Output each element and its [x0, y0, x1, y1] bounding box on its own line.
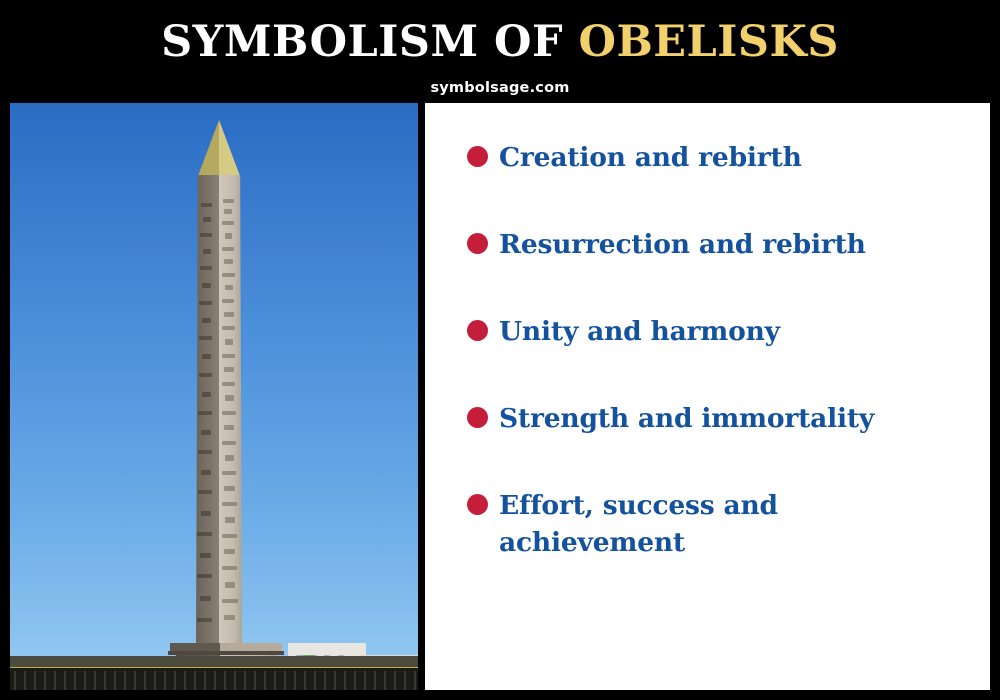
- hieroglyph-mark: [224, 549, 235, 554]
- hieroglyph-mark: [224, 425, 234, 430]
- hieroglyph-mark: [225, 285, 233, 290]
- hieroglyph-mark-shaded: [197, 532, 212, 536]
- hieroglyph-mark-shaded: [201, 470, 211, 475]
- list-item-label: Creation and rebirth: [499, 139, 802, 176]
- list-item-label: Effort, success and achievement: [499, 487, 859, 561]
- hieroglyph-mark-shaded: [198, 411, 212, 415]
- pyramidion-left-face: [198, 120, 219, 176]
- hieroglyph-mark-shaded: [201, 511, 211, 516]
- title-part-obelisks: OBELISKS: [578, 17, 838, 67]
- hieroglyph-mark: [224, 209, 232, 214]
- hieroglyph-mark: [222, 326, 235, 330]
- hieroglyph-mark-shaded: [200, 266, 212, 270]
- hieroglyph-mark-shaded: [200, 553, 211, 558]
- header-band: SYMBOLISM OF OBELISKS symbolsage.com: [0, 0, 1000, 100]
- hieroglyph-mark: [222, 599, 238, 603]
- list-item-label: Unity and harmony: [499, 313, 780, 350]
- list-item: Creation and rebirth: [467, 139, 967, 176]
- infographic-canvas: SYMBOLISM OF OBELISKS symbolsage.com: [0, 0, 1000, 700]
- hieroglyph-mark: [222, 299, 234, 303]
- hieroglyph-mark-shaded: [202, 354, 211, 359]
- pedestal-cornice-lit: [220, 643, 282, 651]
- hieroglyph-mark: [222, 441, 236, 445]
- hieroglyph-mark: [223, 199, 234, 203]
- list-item: Strength and immortality: [467, 400, 967, 437]
- hieroglyph-mark-shaded: [198, 450, 212, 454]
- hieroglyph-mark-shaded: [202, 392, 211, 397]
- hieroglyph-mark: [224, 367, 234, 372]
- hieroglyph-mark: [225, 455, 234, 461]
- hieroglyph-mark: [222, 566, 237, 570]
- hieroglyph-mark: [225, 395, 234, 401]
- title-part-symbolism-of: SYMBOLISM OF: [161, 17, 578, 67]
- hieroglyph-mark: [222, 411, 236, 415]
- hieroglyph-mark-shaded: [202, 318, 211, 323]
- hieroglyph-mark: [225, 517, 235, 523]
- page-title: SYMBOLISM OF OBELISKS: [0, 17, 1000, 67]
- bullet-dot-icon: [467, 146, 488, 167]
- list-item-label: Strength and immortality: [499, 400, 874, 437]
- hieroglyph-mark-shaded: [203, 217, 211, 222]
- hieroglyph-mark: [225, 233, 232, 239]
- hieroglyph-mark: [225, 339, 233, 345]
- list-item: Unity and harmony: [467, 313, 967, 350]
- hieroglyph-mark-shaded: [203, 249, 211, 254]
- obelisk-photo: [10, 103, 418, 690]
- hieroglyph-mark: [225, 582, 235, 588]
- obelisk-shaft-shaded-face: [196, 175, 219, 643]
- hieroglyph-mark: [224, 615, 235, 620]
- railing-fence: [10, 668, 418, 690]
- hieroglyph-mark: [224, 486, 235, 491]
- hieroglyph-mark: [224, 259, 233, 264]
- hieroglyph-mark-shaded: [201, 430, 211, 435]
- hieroglyph-mark: [222, 382, 235, 386]
- hieroglyph-mark-shaded: [197, 574, 212, 578]
- symbolism-list: Creation and rebirth Resurrection and re…: [467, 139, 967, 561]
- obelisk-monument: [10, 103, 418, 690]
- obelisk-shaft-lit-face: [219, 175, 242, 643]
- hieroglyph-mark-shaded: [200, 596, 211, 601]
- hieroglyph-mark: [222, 247, 234, 251]
- hieroglyph-mark-shaded: [202, 283, 211, 288]
- bullet-dot-icon: [467, 494, 488, 515]
- hieroglyph-mark-shaded: [197, 618, 212, 622]
- list-item-label: Resurrection and rebirth: [499, 226, 866, 263]
- hieroglyph-mark-shaded: [198, 490, 212, 494]
- hieroglyph-mark: [222, 354, 235, 358]
- hieroglyph-mark: [224, 312, 234, 317]
- hieroglyph-mark: [222, 502, 237, 506]
- hieroglyph-mark-shaded: [200, 233, 212, 237]
- list-item: Resurrection and rebirth: [467, 226, 967, 263]
- hieroglyph-mark: [222, 273, 235, 277]
- pedestal-cornice-shaded: [170, 643, 220, 651]
- hieroglyph-mark-shaded: [199, 336, 212, 340]
- list-item: Effort, success and achievement: [467, 487, 967, 561]
- hieroglyph-mark-shaded: [201, 203, 212, 207]
- hieroglyph-mark-shaded: [199, 373, 212, 377]
- bullet-dot-icon: [467, 320, 488, 341]
- hieroglyph-mark: [222, 534, 237, 538]
- bullet-dot-icon: [467, 407, 488, 428]
- bullet-dot-icon: [467, 233, 488, 254]
- hieroglyph-mark-shaded: [199, 301, 212, 305]
- pyramidion-right-face: [219, 120, 240, 176]
- pedestal-cornice-edge: [168, 651, 284, 655]
- site-attribution: symbolsage.com: [0, 80, 1000, 96]
- hieroglyph-mark: [222, 471, 236, 475]
- hieroglyph-mark: [222, 221, 234, 225]
- symbolism-list-panel: Creation and rebirth Resurrection and re…: [425, 103, 990, 690]
